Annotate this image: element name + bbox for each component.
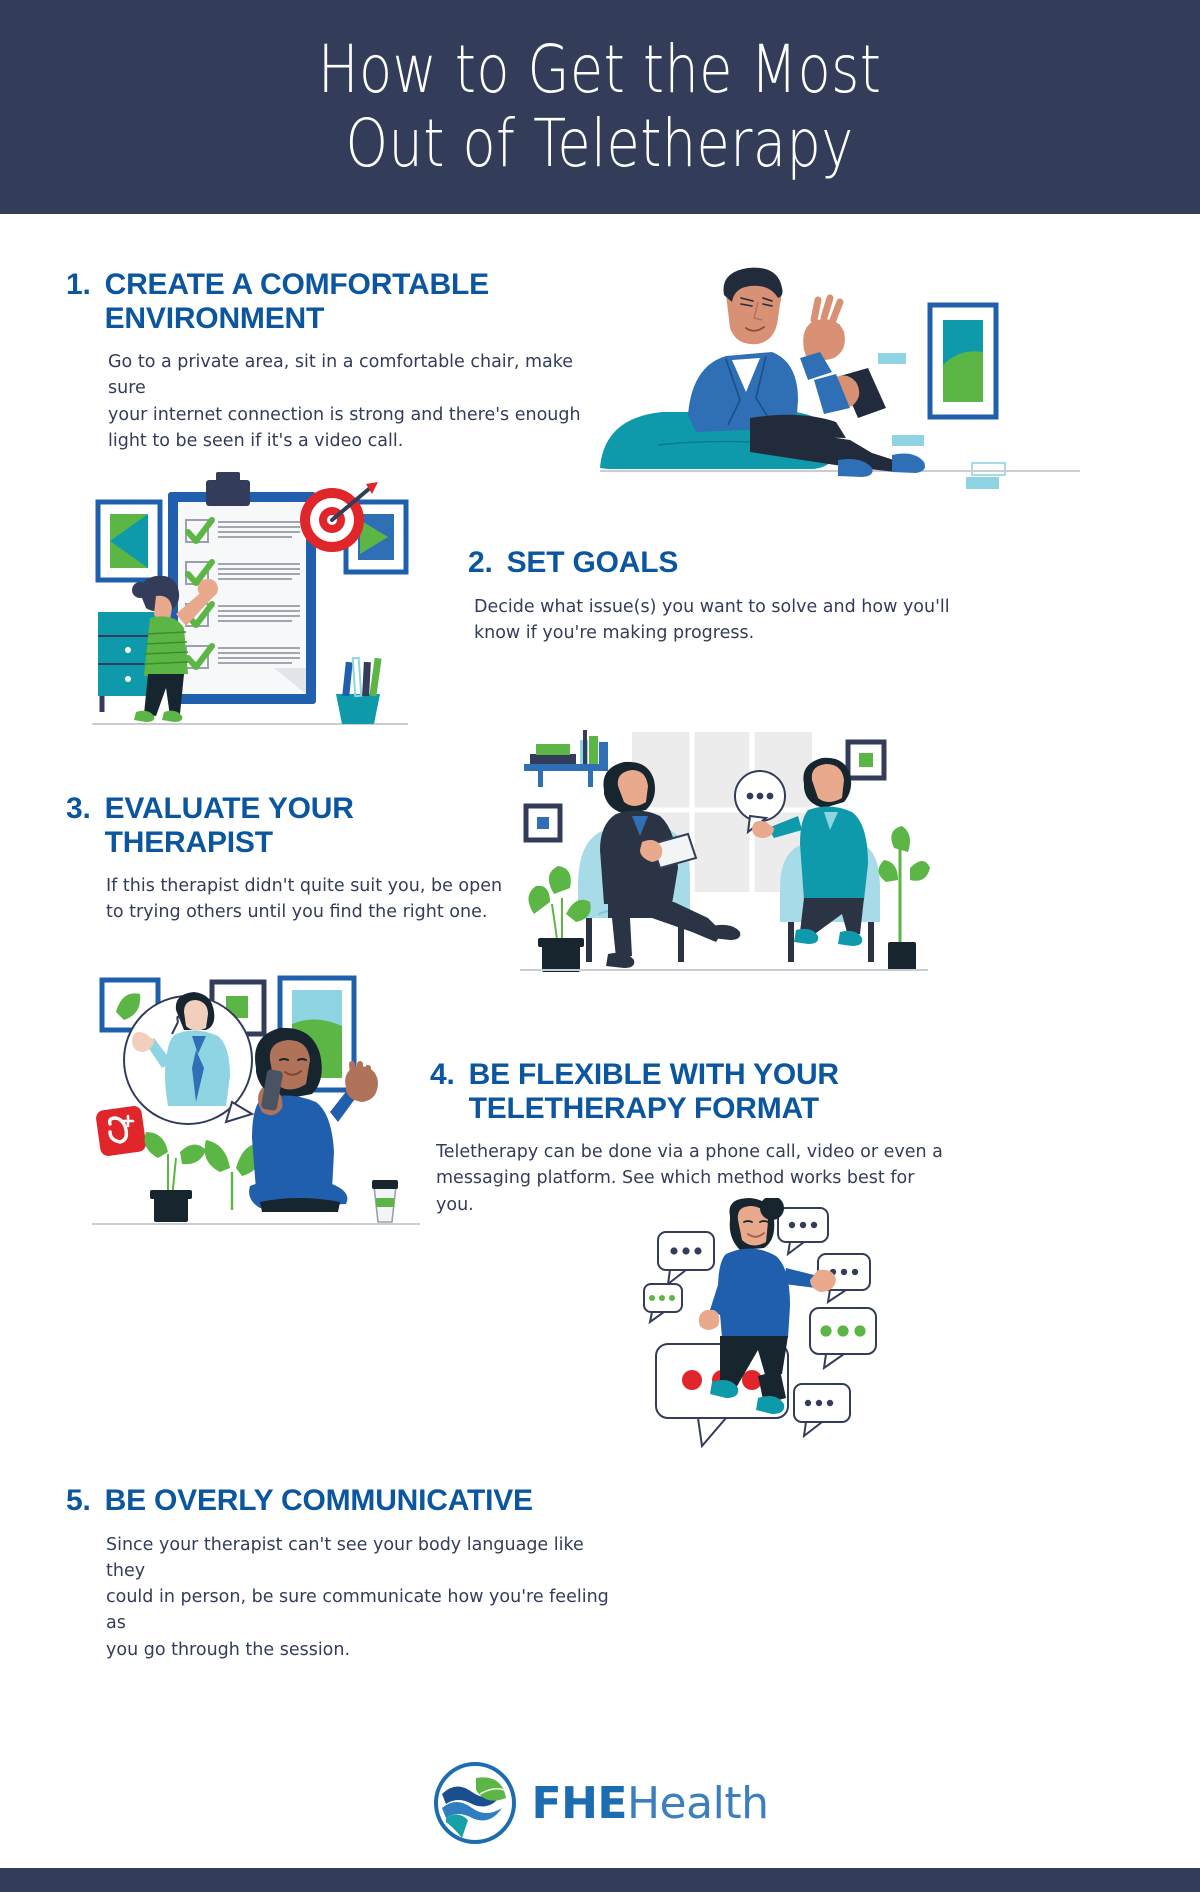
step-1-text-block: 1. CREATE A COMFORTABLE ENVIRONMENT Go t… <box>66 268 586 454</box>
page-title: How to Get the Most Out of Teletherapy <box>318 33 882 181</box>
therapist-and-client-in-session-chairs-icon <box>512 718 932 988</box>
step-3-heading: 3. EVALUATE YOUR THERAPIST <box>66 792 526 859</box>
step-5-title: BE OVERLY COMMUNICATIVE <box>105 1484 533 1518</box>
step-1-number: 1. <box>66 268 91 302</box>
step-4-illustration <box>84 972 424 1242</box>
step-4-text-block: 4. BE FLEXIBLE WITH YOUR TELETHERAPY FOR… <box>430 1058 950 1218</box>
step-2-text-block: 2. SET GOALS Decide what issue(s) you wa… <box>468 546 968 646</box>
step-2-heading: 2. SET GOALS <box>468 546 968 580</box>
woman-on-phone-call-with-therapist-thought-bubble-icon <box>84 972 424 1242</box>
logo-bold-text: FHE <box>532 1778 627 1829</box>
fhe-health-wave-leaf-logo-icon <box>432 1760 518 1846</box>
step-5-text-block: 5. BE OVERLY COMMUNICATIVE Since your th… <box>66 1484 626 1663</box>
step-4-heading: 4. BE FLEXIBLE WITH YOUR TELETHERAPY FOR… <box>430 1058 950 1125</box>
step-5-number: 5. <box>66 1484 91 1518</box>
logo-wordmark: FHEHealth <box>532 1778 769 1829</box>
man-relaxing-on-beanbag-with-phone-icon <box>600 240 1170 490</box>
step-1-body: Go to a private area, sit in a comfortab… <box>108 349 586 454</box>
step-3-illustration <box>512 718 932 988</box>
step-2-number: 2. <box>468 546 493 580</box>
step-2-illustration <box>78 462 418 732</box>
step-3-number: 3. <box>66 792 91 826</box>
step-5-body: Since your therapist can't see your body… <box>106 1532 626 1663</box>
step-4-number: 4. <box>430 1058 455 1092</box>
step-1-heading: 1. CREATE A COMFORTABLE ENVIRONMENT <box>66 268 586 335</box>
step-3-text-block: 3. EVALUATE YOUR THERAPIST If this thera… <box>66 792 526 926</box>
step-2-body: Decide what issue(s) you want to solve a… <box>474 594 968 647</box>
step-3-title: EVALUATE YOUR THERAPIST <box>105 792 354 859</box>
step-5-illustration <box>640 1198 940 1448</box>
footer-logo: FHEHealth <box>0 1760 1200 1846</box>
logo-light-text: Health <box>627 1778 768 1829</box>
step-1-illustration <box>600 240 1170 490</box>
page-header: How to Get the Most Out of Teletherapy <box>0 0 1200 214</box>
step-1-title: CREATE A COMFORTABLE ENVIRONMENT <box>105 268 489 335</box>
footer-bar <box>0 1868 1200 1892</box>
step-5-heading: 5. BE OVERLY COMMUNICATIVE <box>66 1484 626 1518</box>
step-3-body: If this therapist didn't quite suit you,… <box>106 873 526 926</box>
step-2-title: SET GOALS <box>507 546 679 580</box>
woman-checking-clipboard-checklist-with-target-icon <box>78 462 418 732</box>
woman-sitting-on-chat-bubbles-icon <box>640 1198 940 1448</box>
step-4-title: BE FLEXIBLE WITH YOUR TELETHERAPY FORMAT <box>469 1058 839 1125</box>
